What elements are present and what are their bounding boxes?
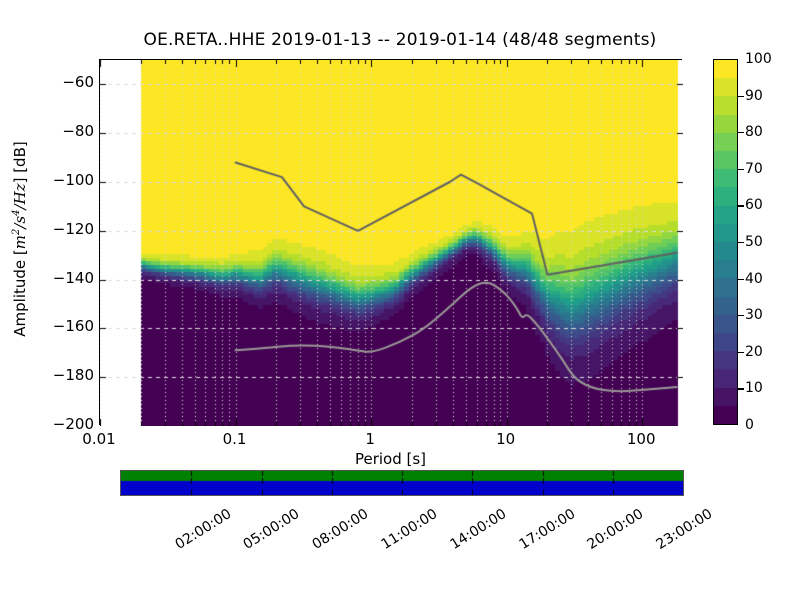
y-tick-label-1: −80 xyxy=(50,124,94,139)
x-tick-label-3: 10 xyxy=(496,430,515,448)
colorbar-tick-mark-7 xyxy=(738,315,744,316)
time-tick-label-4: 14:00:00 xyxy=(447,506,509,553)
colorbar-tick-mark-3 xyxy=(738,169,744,170)
y-tick-label-2: −100 xyxy=(50,173,94,188)
x-tick-label-2: 1 xyxy=(365,430,375,448)
x-axis-label: Period [s] xyxy=(99,450,682,468)
y-axis-label-suffix: ] [dB] xyxy=(11,141,29,183)
y-tick-label-4: −140 xyxy=(50,271,94,286)
colorbar-tick-label-1: 90 xyxy=(745,88,763,104)
colorbar-tick-mark-9 xyxy=(738,388,744,389)
y-tick-label-3: −120 xyxy=(50,222,94,237)
colorbar-tick-mark-6 xyxy=(738,279,744,280)
time-tick-label-6: 20:00:00 xyxy=(585,506,647,553)
colorbar-tick-label-9: 10 xyxy=(745,380,763,396)
y-axis-label-m: m xyxy=(11,235,29,249)
x-tick-label-0: 0.01 xyxy=(82,430,115,448)
time-tick-label-2: 08:00:00 xyxy=(310,506,372,553)
y-tick-label-6: −180 xyxy=(50,368,94,383)
colorbar-tick-label-5: 50 xyxy=(745,234,763,250)
x-tick-label-1: 0.1 xyxy=(223,430,247,448)
colorbar-tick-mark-1 xyxy=(738,96,744,97)
colorbar-tick-label-0: 100 xyxy=(745,51,772,67)
coverage-canvas xyxy=(121,471,683,495)
x-axis-ticks: 0.010.1110100 xyxy=(0,430,800,452)
page-title: OE.RETA..HHE 2019-01-13 -- 2019-01-14 (4… xyxy=(0,30,800,50)
noise-model-overlay-canvas xyxy=(100,60,683,426)
colorbar-ticks: 1009080706050403020100 xyxy=(738,59,778,425)
ppsd-figure: OE.RETA..HHE 2019-01-13 -- 2019-01-14 (4… xyxy=(0,0,800,600)
y-axis-label: Amplitude [m2/s4/Hz] [dB] xyxy=(11,79,29,399)
colorbar-tick-label-10: 0 xyxy=(745,417,754,433)
y-axis-label-sup4: 4 xyxy=(11,209,22,215)
y-axis-label-prefix: Amplitude [ xyxy=(11,249,29,337)
data-coverage-strip xyxy=(120,470,684,496)
colorbar-tick-label-2: 80 xyxy=(745,124,763,140)
colorbar-tick-mark-2 xyxy=(738,132,744,133)
colorbar xyxy=(713,59,738,425)
y-axis-label-s: /s xyxy=(11,216,29,229)
colorbar-gradient xyxy=(714,60,737,424)
time-axis-ticks: 02:00:0005:00:0008:00:0011:00:0014:00:00… xyxy=(0,500,800,570)
colorbar-tick-label-6: 40 xyxy=(745,271,763,287)
y-tick-label-0: −60 xyxy=(50,75,94,90)
colorbar-tick-mark-5 xyxy=(738,242,744,243)
colorbar-tick-label-4: 60 xyxy=(745,197,763,213)
time-tick-label-3: 11:00:00 xyxy=(379,506,441,553)
ppsd-plot-area xyxy=(99,59,682,425)
y-axis-label-sup2: 2 xyxy=(11,229,22,235)
x-tick-label-4: 100 xyxy=(627,430,656,448)
time-tick-label-0: 02:00:00 xyxy=(172,506,234,553)
time-tick-label-5: 17:00:00 xyxy=(516,506,578,553)
colorbar-tick-label-8: 20 xyxy=(745,344,763,360)
colorbar-tick-label-7: 30 xyxy=(745,307,763,323)
y-tick-label-5: −160 xyxy=(50,319,94,334)
time-tick-label-1: 05:00:00 xyxy=(241,506,303,553)
time-tick-label-7: 23:00:00 xyxy=(654,506,716,553)
y-axis-label-hz: /Hz xyxy=(11,183,29,209)
colorbar-tick-label-3: 70 xyxy=(745,161,763,177)
colorbar-tick-mark-8 xyxy=(738,352,744,353)
colorbar-tick-mark-4 xyxy=(738,205,744,206)
